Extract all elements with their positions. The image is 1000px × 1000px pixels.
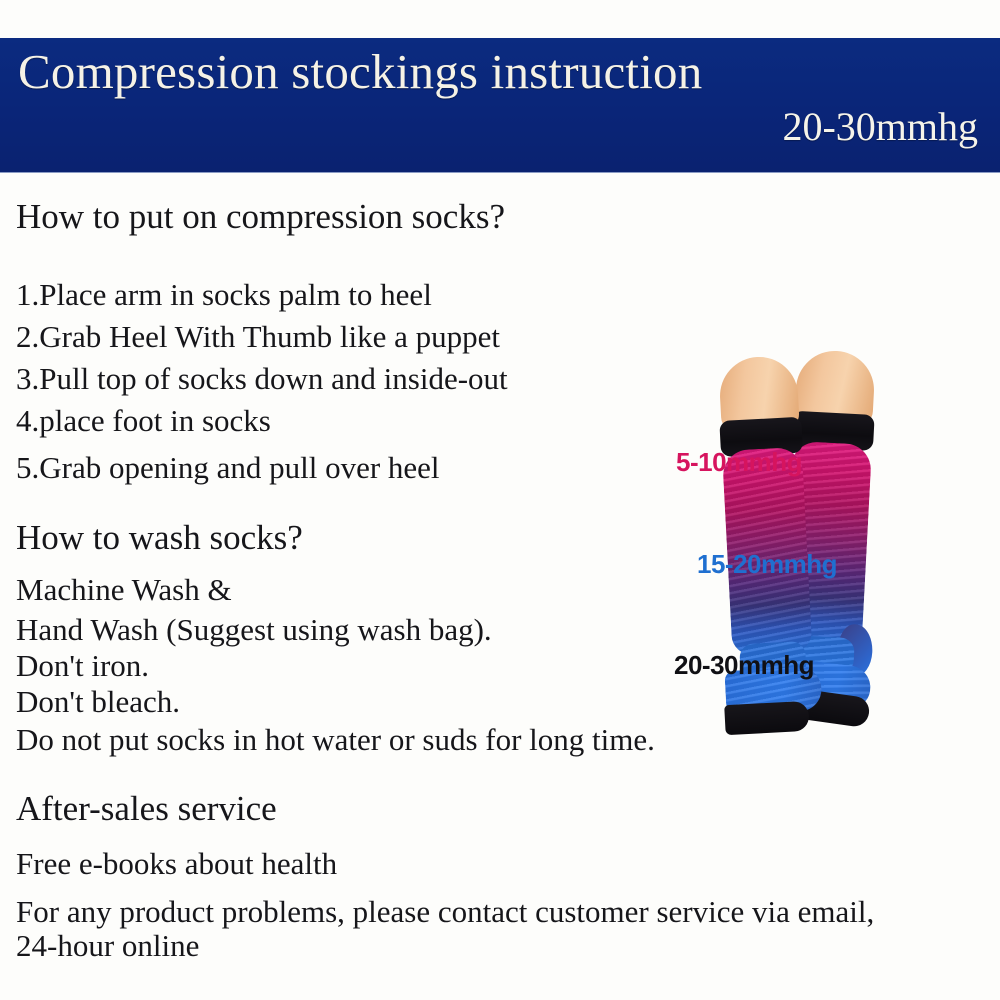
sock-toe-front [724, 701, 809, 735]
mmhg-label-thigh: 5-10mmhg [676, 447, 802, 478]
heading-how-to-wash: How to wash socks? [16, 518, 303, 558]
put-on-step-1: 1.Place arm in socks palm to heel [16, 277, 432, 313]
pressure-rating-label: 20-30mmhg [782, 106, 978, 148]
heading-after-sales-service: After-sales service [16, 789, 277, 829]
put-on-step-2: 2.Grab Heel With Thumb like a puppet [16, 319, 500, 355]
mmhg-label-calf: 15-20mmhg [697, 549, 837, 580]
wash-line-2: Hand Wash (Suggest using wash bag). [16, 612, 492, 648]
put-on-step-5: 5.Grab opening and pull over heel [16, 450, 440, 486]
header-banner: Compression stockings instruction 20-30m… [0, 38, 1000, 172]
service-line-2: For any product problems, please contact… [16, 894, 874, 930]
put-on-step-3: 3.Pull top of socks down and inside-out [16, 361, 508, 397]
mmhg-label-ankle: 20-30mmhg [674, 650, 814, 681]
wash-line-4: Don't bleach. [16, 684, 180, 720]
wash-line-5: Do not put socks in hot water or suds fo… [16, 722, 655, 758]
wash-line-1: Machine Wash & [16, 572, 232, 608]
page-title: Compression stockings instruction [18, 46, 702, 97]
wash-line-3: Don't iron. [16, 648, 149, 684]
service-line-1: Free e-books about health [16, 846, 337, 882]
put-on-step-4: 4.place foot in socks [16, 403, 271, 439]
heading-how-to-put-on: How to put on compression socks? [16, 197, 505, 237]
service-line-3: 24-hour online [16, 928, 199, 964]
instruction-card: Compression stockings instruction 20-30m… [0, 0, 1000, 1000]
